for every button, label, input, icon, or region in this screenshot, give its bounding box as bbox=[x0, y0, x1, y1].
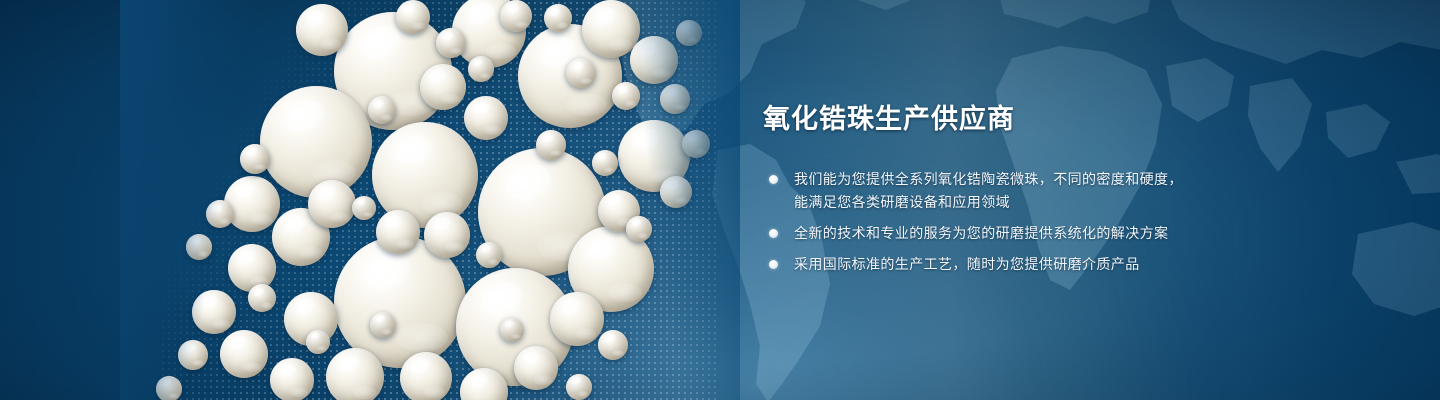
bead-cluster bbox=[120, 0, 740, 400]
bullet-dot-icon bbox=[769, 175, 778, 184]
page-title: 氧化锆珠生产供应商 bbox=[763, 104, 1363, 136]
feature-list: 我们能为您提供全系列氧化锆陶瓷微珠，不同的密度和硬度， 能满足您各类研磨设备和应… bbox=[763, 168, 1363, 276]
list-item-line: 全新的技术和专业的服务为您的研磨提供系统化的解决方案 bbox=[794, 222, 1363, 245]
banner-copy: 氧化锆珠生产供应商 我们能为您提供全系列氧化锆陶瓷微珠，不同的密度和硬度， 能满… bbox=[763, 104, 1363, 276]
list-item: 我们能为您提供全系列氧化锆陶瓷微珠，不同的密度和硬度， 能满足您各类研磨设备和应… bbox=[763, 168, 1363, 214]
bullet-dot-icon bbox=[769, 260, 778, 269]
zirconia-beads-photo bbox=[120, 0, 740, 400]
list-item-line: 能满足您各类研磨设备和应用领域 bbox=[794, 191, 1363, 214]
list-item: 全新的技术和专业的服务为您的研磨提供系统化的解决方案 bbox=[763, 222, 1363, 245]
hero-banner: 氧化锆珠生产供应商 我们能为您提供全系列氧化锆陶瓷微珠，不同的密度和硬度， 能满… bbox=[0, 0, 1440, 400]
bullet-dot-icon bbox=[769, 229, 778, 238]
list-item: 采用国际标准的生产工艺，随时为您提供研磨介质产品 bbox=[763, 253, 1363, 276]
list-item-line: 采用国际标准的生产工艺，随时为您提供研磨介质产品 bbox=[794, 253, 1363, 276]
list-item-line: 我们能为您提供全系列氧化锆陶瓷微珠，不同的密度和硬度， bbox=[794, 168, 1363, 191]
photo-inner bbox=[120, 0, 740, 400]
